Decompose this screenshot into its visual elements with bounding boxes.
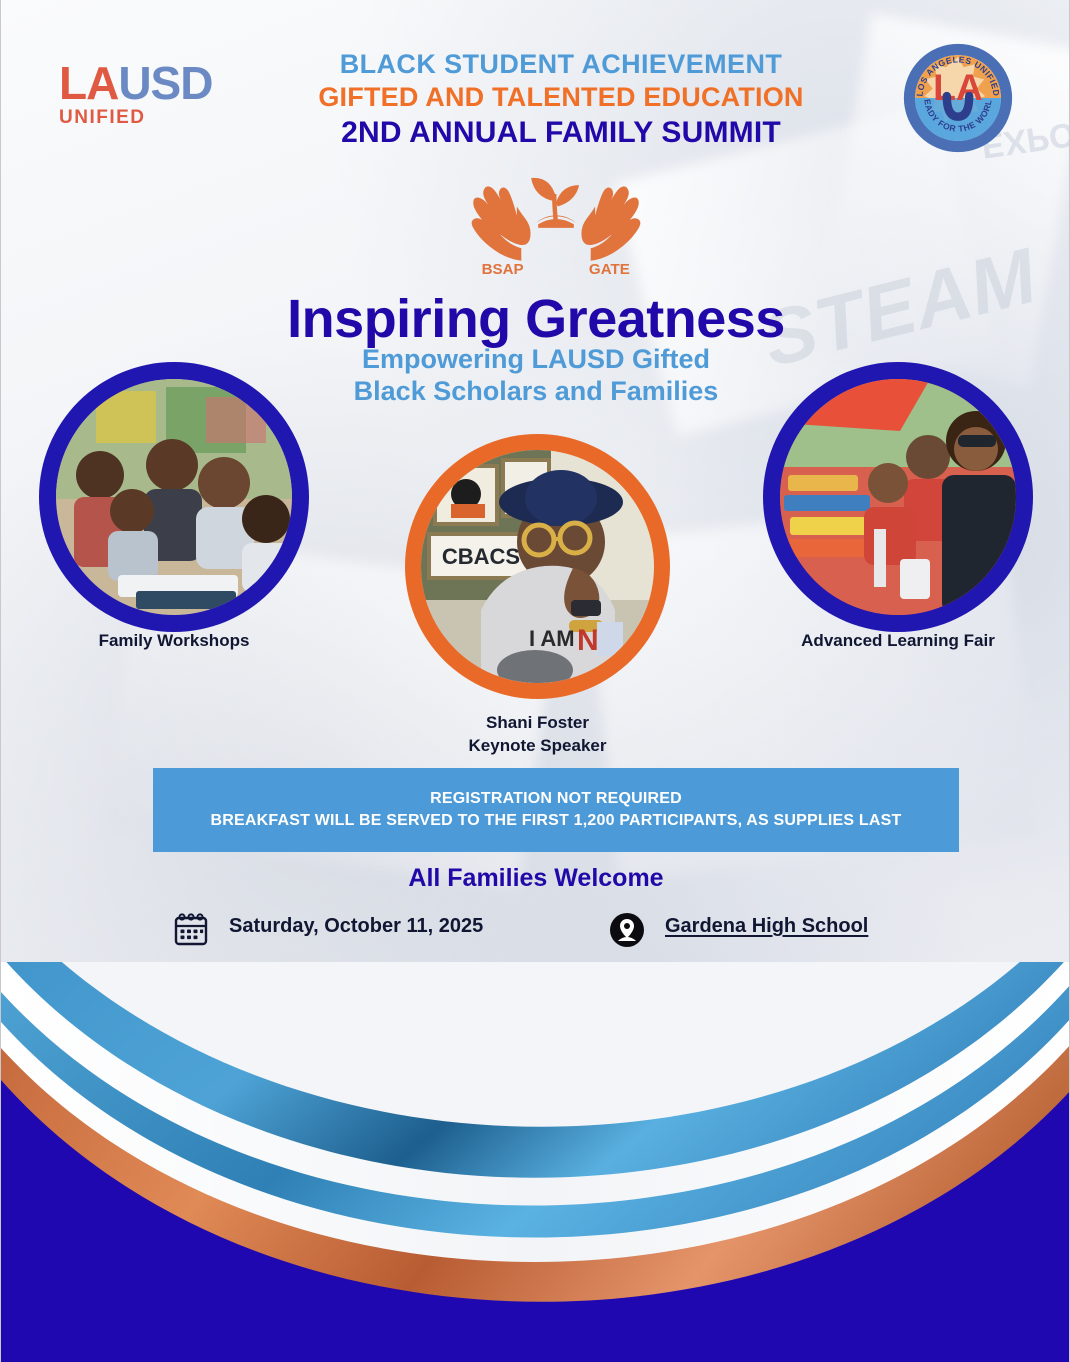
logo-letter-usd: USD xyxy=(118,57,212,109)
header-titles: BLACK STUDENT ACHIEVEMENT GIFTED AND TAL… xyxy=(266,48,856,151)
gate-label: GATE xyxy=(589,261,630,278)
photo-image xyxy=(56,379,292,615)
all-families-welcome-heading: All Families Welcome xyxy=(1,864,1070,893)
svg-text:LA: LA xyxy=(933,66,983,108)
caption-line: Keynote Speaker xyxy=(405,735,670,758)
caption-line: Shani Foster xyxy=(405,712,670,735)
caption-line: Family Workshops xyxy=(24,630,324,653)
header-line-1: BLACK STUDENT ACHIEVEMENT xyxy=(266,48,856,81)
detail-venue[interactable]: Gardena High School xyxy=(605,908,1005,952)
lausd-seal-icon: LA LOS ANGELES UNIFIED READY FOR THE WOR… xyxy=(902,42,1014,154)
bsap-label: BSAP xyxy=(482,261,524,278)
page-title: Inspiring Greatness xyxy=(1,288,1070,350)
bsap-gate-hands-logo-icon: BSAP GATE xyxy=(467,160,645,285)
caption-line: Advanced Learning Fair xyxy=(748,630,1048,653)
photo-keynote-speaker: CBACS I AM N xyxy=(405,434,670,699)
lausd-logo: LAUSD UNIFIED xyxy=(59,60,212,129)
bottom-wave-decoration xyxy=(1,962,1070,1362)
svg-text:N: N xyxy=(577,624,599,657)
logo-letter-l: LA xyxy=(59,57,118,109)
svg-text:CBACS: CBACS xyxy=(442,544,520,569)
svg-text:I AM: I AM xyxy=(529,626,575,651)
detail-venue-text[interactable]: Gardena High School xyxy=(665,908,868,940)
photo-caption-keynote-speaker: Shani Foster Keynote Speaker xyxy=(405,712,670,758)
lausd-wordmark: LAUSD xyxy=(59,60,212,106)
detail-date: Saturday, October 11, 2025 xyxy=(169,908,569,952)
header-line-2: GIFTED AND TALENTED EDUCATION xyxy=(266,81,856,114)
photo-caption-family-workshops: Family Workshops xyxy=(24,630,324,653)
photo-image: CBACS I AM N xyxy=(421,450,654,683)
flyer-page: STEAM STEAM EXPO LAUSD UNIFIED BLACK STU… xyxy=(0,0,1070,1362)
photo-caption-advanced-learning-fair: Advanced Learning Fair xyxy=(748,630,1048,653)
calendar-icon xyxy=(169,908,213,952)
detail-date-text: Saturday, October 11, 2025 xyxy=(229,908,483,940)
header-line-3: 2ND ANNUAL FAMILY SUMMIT xyxy=(266,114,856,152)
photo-advanced-learning-fair xyxy=(763,362,1033,632)
header: LAUSD UNIFIED BLACK STUDENT ACHIEVEMENT … xyxy=(1,0,1070,175)
registration-notice-banner: REGISTRATION NOT REQUIRED BREAKFAST WILL… xyxy=(153,768,959,852)
location-pin-icon xyxy=(605,908,649,952)
photo-family-workshops xyxy=(39,362,309,632)
notice-line-1: REGISTRATION NOT REQUIRED xyxy=(430,790,682,808)
lausd-unified-label: UNIFIED xyxy=(59,107,212,129)
photo-image xyxy=(780,379,1016,615)
notice-line-2: BREAKFAST WILL BE SERVED TO THE FIRST 1,… xyxy=(210,812,901,830)
